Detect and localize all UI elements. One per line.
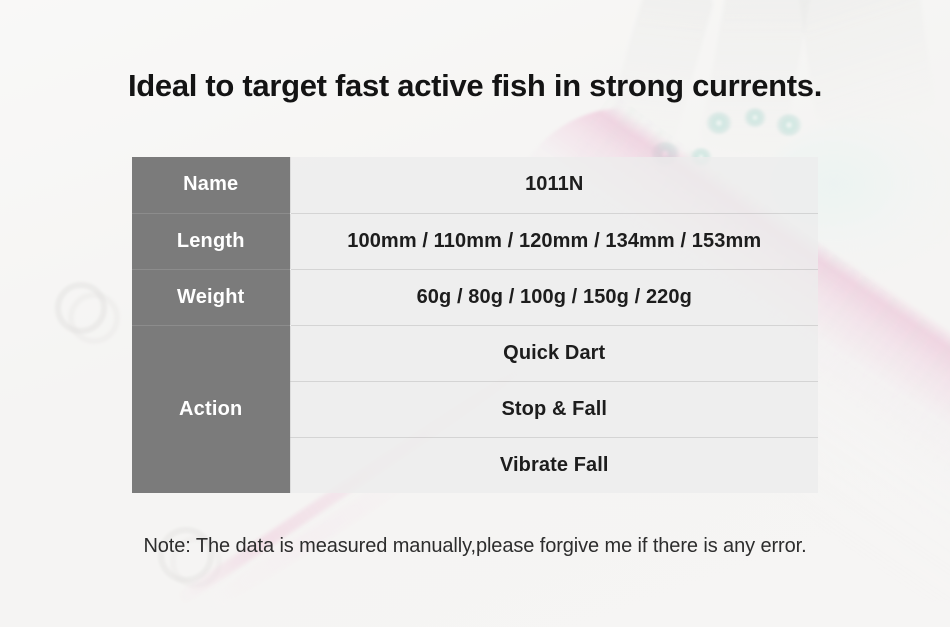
page-content: Ideal to target fast active fish in stro… [0, 0, 950, 627]
page-title: Ideal to target fast active fish in stro… [0, 68, 950, 104]
spec-value-name: 1011N [290, 157, 818, 213]
table-row: Action Quick Dart [132, 325, 818, 381]
spec-value-weight: 60g / 80g / 100g / 150g / 220g [290, 269, 818, 325]
spec-value-action-2: Stop & Fall [290, 381, 818, 437]
spec-label-weight: Weight [132, 269, 290, 325]
spec-label-action: Action [132, 325, 290, 493]
spec-label-name: Name [132, 157, 290, 213]
spec-value-length: 100mm / 110mm / 120mm / 134mm / 153mm [290, 213, 818, 269]
measurement-note: Note: The data is measured manually,plea… [0, 535, 950, 558]
specification-table: Name 1011N Length 100mm / 110mm / 120mm … [132, 157, 818, 493]
table-row: Name 1011N [132, 157, 818, 213]
table-row: Length 100mm / 110mm / 120mm / 134mm / 1… [132, 213, 818, 269]
spec-label-length: Length [132, 213, 290, 269]
table-row: Weight 60g / 80g / 100g / 150g / 220g [132, 269, 818, 325]
spec-value-action-1: Quick Dart [290, 325, 818, 381]
spec-value-action-3: Vibrate Fall [290, 437, 818, 493]
